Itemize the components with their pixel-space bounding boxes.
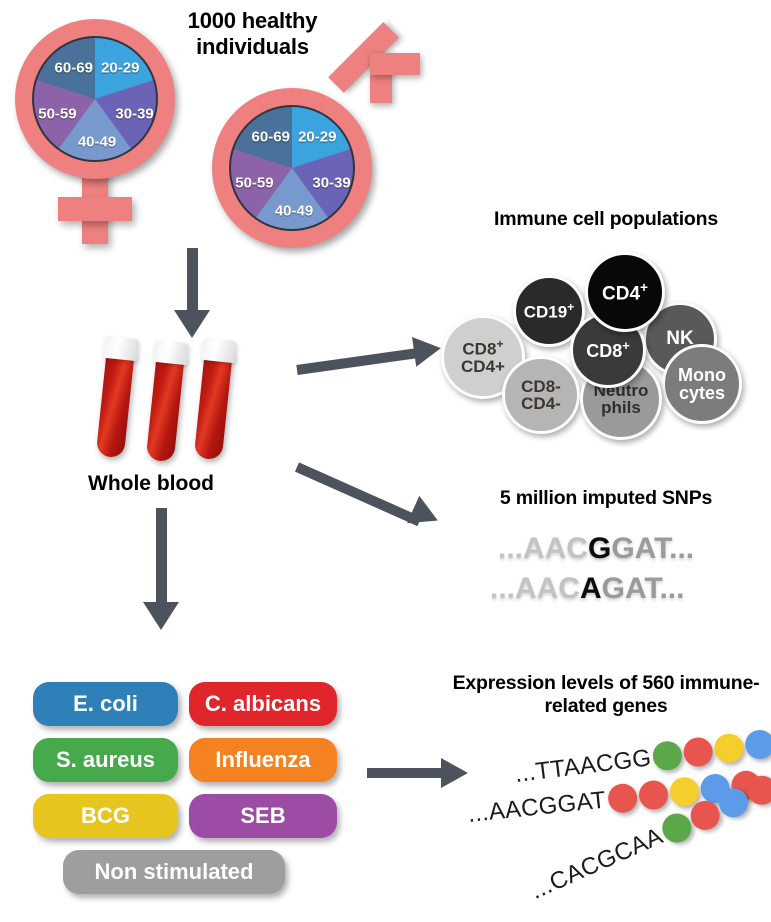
diagram-canvas: 1000 healthy individuals Immune cell pop…: [0, 0, 771, 922]
snp-prefix: ...AAC: [498, 532, 588, 565]
age-group-label-40-49: 40-49: [78, 134, 116, 151]
section-title-snps: 5 million imputed SNPs: [446, 487, 766, 510]
age-group-label-20-29: 20-29: [298, 129, 336, 146]
blood-tube-neck: [103, 336, 139, 361]
immune-cell-monocytes: Monocytes: [662, 344, 742, 424]
age-group-label-30-39: 30-39: [115, 105, 153, 122]
rna-bead: [637, 779, 669, 811]
blood-tube-neck: [201, 338, 237, 363]
stimulus-c-albicans[interactable]: C. albicans: [189, 682, 337, 726]
snp-variant-allele: G: [588, 532, 611, 565]
cell-label-line2: CD4+: [461, 357, 505, 376]
age-group-label-40-49: 40-49: [275, 203, 313, 220]
male-age-pie: 20-2930-3940-4950-5960-69: [229, 105, 355, 231]
male-gender-symbol: 20-2930-3940-4950-5960-69: [208, 50, 428, 250]
cell-label-line1: CD8-: [521, 377, 561, 396]
blood-tube-body: [96, 348, 135, 458]
age-group-label-50-59: 50-59: [38, 105, 76, 122]
snp-suffix: GAT...: [602, 572, 685, 605]
stimuli-panel: E. coli C. albicans S. aureus Influenza …: [33, 682, 353, 894]
stimulus-bcg[interactable]: BCG: [33, 794, 178, 838]
snp-sequence-row: ...AACGGAT...: [498, 532, 694, 566]
snp-variant-allele: A: [580, 572, 602, 605]
female-gender-symbol: 20-2930-3940-4950-5960-69: [10, 14, 190, 244]
section-title-immune-cells: Immune cell populations: [446, 208, 766, 231]
rna-bead: [744, 728, 771, 760]
stimulus-influenza[interactable]: Influenza: [189, 738, 337, 782]
arrow-shaft: [295, 462, 421, 526]
arrow-shaft: [367, 768, 443, 778]
arrow-shaft: [296, 348, 420, 375]
cell-label-line2: cytes: [679, 383, 725, 403]
age-group-label-50-59: 50-59: [235, 174, 273, 191]
stimulus-e-coli[interactable]: E. coli: [33, 682, 178, 726]
age-group-label-30-39: 30-39: [312, 174, 350, 191]
immune-cell-cd4pos: CD4+: [585, 252, 665, 332]
blood-tube-neck: [153, 340, 189, 365]
stimulus-non-stimulated[interactable]: Non stimulated: [63, 850, 285, 894]
rna-bead: [682, 736, 714, 768]
stimulus-s-aureus[interactable]: S. aureus: [33, 738, 178, 782]
female-age-pie: 20-2930-3940-4950-5960-69: [32, 36, 158, 162]
cell-label-line2: phils: [601, 398, 641, 417]
male-symbol-arrow-head-h: [370, 53, 420, 75]
age-group-label-60-69: 60-69: [252, 129, 290, 146]
strand-sequence: ...CACGCAA: [526, 822, 667, 905]
blood-tube-body: [194, 350, 233, 460]
arrow-head: [407, 496, 444, 534]
arrow-head: [143, 602, 179, 630]
immune-cell-cluster: CD8+CD4+ CD19+ CD4+ NK CD8+ Monocytes CD…: [440, 240, 771, 420]
cell-label: CD8: [586, 341, 622, 361]
snp-suffix: GAT...: [611, 532, 694, 565]
arrow-head: [412, 333, 443, 366]
arrow-head: [174, 310, 210, 338]
snp-sequence-row: ...AACAGAT...: [490, 572, 684, 606]
stimulus-seb[interactable]: SEB: [189, 794, 337, 838]
arrow-shaft: [187, 248, 198, 316]
snp-prefix: ...AAC: [490, 572, 580, 605]
immune-cell-cd8neg-cd4neg: CD8-CD4-: [502, 356, 580, 434]
rna-bead: [713, 732, 745, 764]
blood-tube-body: [146, 352, 185, 462]
age-group-label-60-69: 60-69: [55, 60, 93, 77]
cell-label-line1: CD8: [462, 340, 496, 359]
age-group-label-20-29: 20-29: [101, 60, 139, 77]
rna-bead: [606, 782, 638, 814]
cell-label-line2: CD4-: [521, 394, 561, 413]
whole-blood-label: Whole blood: [88, 472, 214, 496]
cell-label: CD19: [524, 303, 567, 322]
expression-strand-group: ...TTAACGG ...AACGGAT ...CACGCAA: [440, 700, 771, 922]
cell-label-line1: Mono: [678, 365, 726, 385]
strand-sequence: ...AACGGAT: [467, 786, 608, 828]
rna-bead: [651, 740, 683, 772]
arrow-shaft: [156, 508, 167, 608]
cell-label: CD4: [602, 283, 640, 304]
female-symbol-crossbar: [58, 197, 132, 221]
